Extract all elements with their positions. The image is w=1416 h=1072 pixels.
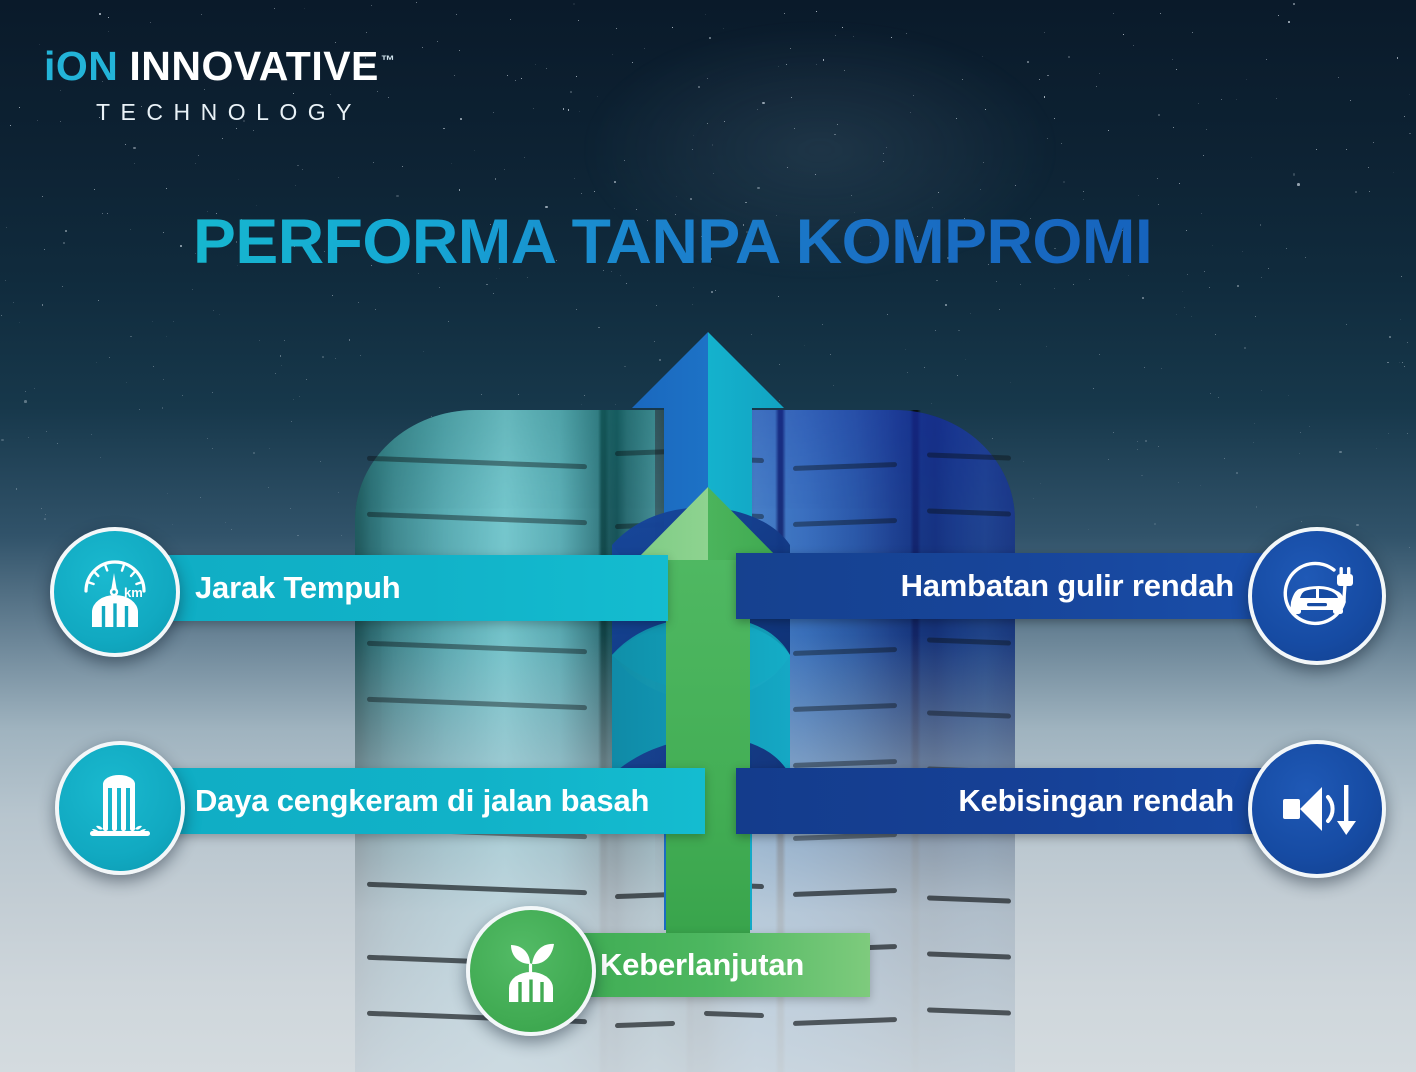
logo-ion-text: iON	[44, 43, 118, 89]
logo-wordmark: iONINNOVATIVE™	[44, 46, 395, 87]
feature-label-wet-grip: Daya cengkeram di jalan basah	[120, 783, 649, 819]
infographic-canvas: iONINNOVATIVE™ TECHNOLOGY PERFORMA TANPA…	[0, 0, 1416, 1072]
feature-bar-mileage[interactable]: Jarak Tempuh	[120, 555, 668, 621]
speaker-down-arrow-icon[interactable]	[1248, 740, 1386, 878]
feature-label-rolling-resistance: Hambatan gulir rendah	[901, 568, 1306, 604]
trademark-icon: ™	[381, 52, 396, 68]
brand-logo: iONINNOVATIVE™ TECHNOLOGY	[44, 46, 395, 126]
feature-bar-low-noise[interactable]: Kebisingan rendah	[736, 768, 1306, 834]
sprout-tire-icon[interactable]	[466, 906, 596, 1036]
page-title: PERFORMA TANPA KOMPROMI	[193, 206, 1152, 278]
electric-car-plug-icon[interactable]	[1248, 527, 1386, 665]
feature-bar-rolling-resistance[interactable]: Hambatan gulir rendah	[736, 553, 1306, 619]
wet-grip-tire-icon[interactable]	[55, 741, 185, 875]
logo-innovative-text: INNOVATIVE	[129, 43, 379, 89]
odometer-tire-icon[interactable]: km	[50, 527, 180, 657]
logo-tagline: TECHNOLOGY	[96, 99, 395, 126]
feature-bar-wet-grip[interactable]: Daya cengkeram di jalan basah	[120, 768, 705, 834]
